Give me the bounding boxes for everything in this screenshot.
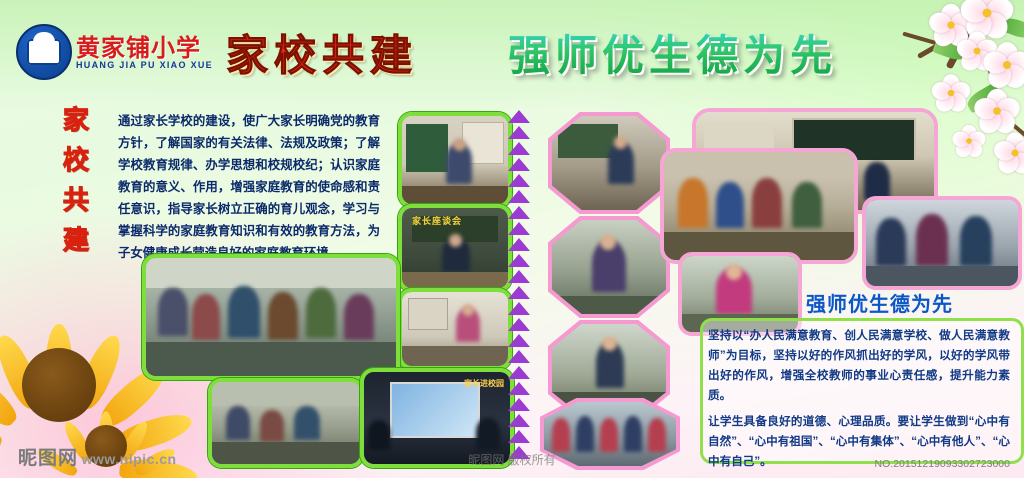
poster-title-left: 家校共建	[226, 22, 418, 83]
school-name-pinyin: HUANG JIA PU XIAO XUE	[76, 60, 213, 70]
poster-title-right: 强师优生德为先	[508, 22, 837, 83]
photo-student-standing-oct	[548, 112, 670, 214]
watermark-cn: 昵图网	[18, 448, 78, 469]
watermark-url: www.nipic.cn	[82, 451, 177, 467]
photo-teacher-award-right	[862, 196, 1022, 290]
main-paragraph: 通过家长学校的建设，使广大家长明确党的教育方针，了解国家的有关法律、法规及政策；…	[118, 110, 380, 264]
school-logo: 黄家铺小学 HUANG JIA PU XIAO XUE	[16, 22, 216, 82]
watermark: 昵图网 www.nipic.cn	[18, 443, 177, 470]
poster-canvas: 黄家铺小学 HUANG JIA PU XIAO XUE 家校共建 强师优生德为先…	[0, 0, 1024, 478]
vertical-title-char-1: 家	[54, 100, 98, 140]
main-paragraph-text: 通过家长学校的建设，使广大家长明确党的教育方针，了解国家的有关法律、法规及政策；…	[118, 110, 380, 264]
photo-teacher-lecture	[398, 112, 512, 208]
school-name-cn: 黄家铺小学	[76, 28, 201, 63]
image-code: NO.20151219093302723000	[875, 458, 1010, 470]
right-section-text: 坚持以“办人民满意教育、创人民满意学校、做人民满意教师”为目标，坚持以好的作风抓…	[708, 326, 1010, 478]
photo-parent-meeting: 家长座谈会	[398, 204, 512, 292]
right-section-heading: 强师优生德为先	[806, 288, 953, 317]
photo-students-desks	[208, 378, 364, 468]
zigzag-divider	[508, 110, 530, 460]
school-emblem-icon	[16, 24, 72, 80]
photo-students-group-right	[660, 148, 858, 264]
vertical-title-char-3: 共	[54, 180, 98, 220]
vertical-title-char-4: 建	[54, 220, 98, 260]
photo-students-line-oct	[540, 398, 680, 470]
photo-girl-reading-oct	[548, 216, 670, 318]
photo-classroom-front	[398, 288, 512, 370]
photo-parents-audience	[142, 254, 400, 380]
center-watermark: 昵图网 版权所有	[468, 451, 555, 468]
vertical-title: 家 校 共 建	[54, 100, 98, 260]
right-paragraph-1: 坚持以“办人民满意教育、创人民满意学校、做人民满意教师”为目标，坚持以好的作风抓…	[708, 326, 1010, 406]
photo-caption-parent-meeting: 家长座谈会	[412, 214, 462, 227]
vertical-title-char-2: 校	[54, 140, 98, 180]
